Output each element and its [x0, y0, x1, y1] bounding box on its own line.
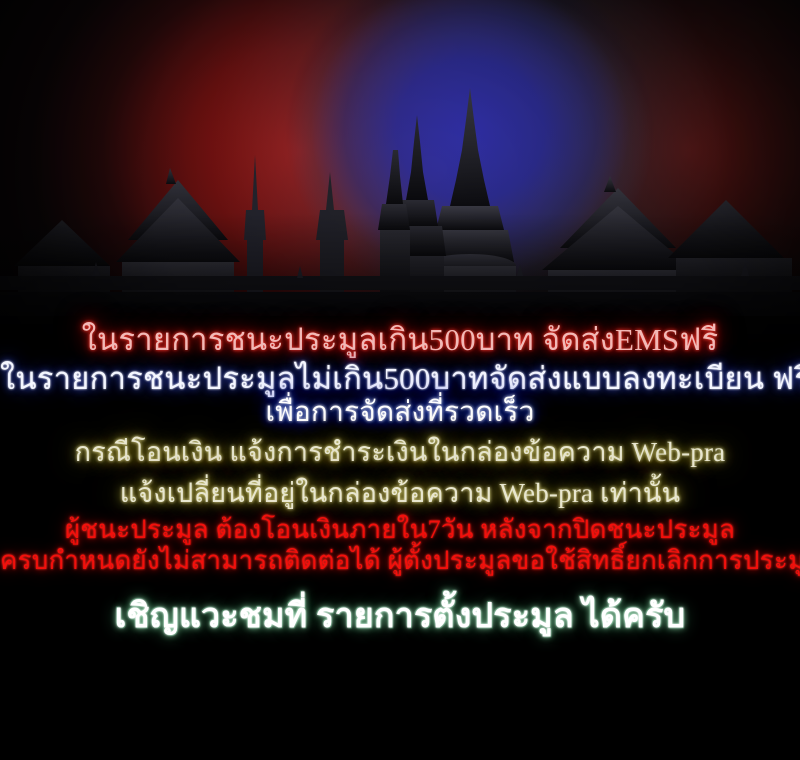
line-shipping-registered-free: ในรายการชนะประมูลไม่เกิน500บาทจัดส่งแบบล… — [0, 359, 800, 397]
terms-text-block: ในรายการชนะประมูลเกิน500บาท จัดส่งEMSฟรี… — [0, 318, 800, 634]
line-address-change: แจ้งเปลี่ยนที่อยู่ในกล่องข้อความ Web-pra… — [0, 473, 800, 514]
line-transfer-7-days: ผู้ชนะประมูล ต้องโอนเงินภายใน7วัน หลังจา… — [0, 514, 800, 545]
auction-terms-banner: ในรายการชนะประมูลเกิน500บาท จัดส่งEMSฟรี… — [0, 0, 800, 760]
line-invite-visit: เชิญแวะชมที่ รายการตั้งประมูล ได้ครับ — [0, 576, 800, 634]
temple-central-spire — [424, 88, 516, 314]
temple-right-pavilion — [542, 176, 694, 314]
line-cancel-right: ครบกำหนดยังไม่สามารถติดต่อได้ ผู้ตั้งประ… — [0, 545, 800, 576]
temple-left-chedi — [316, 172, 348, 314]
temple-left-outer-roof — [14, 220, 110, 314]
temple-wall-finials — [92, 262, 749, 278]
temple-terrace-wall — [0, 276, 800, 322]
line-shipping-ems-free: ในรายการชนะประมูลเกิน500บาท จัดส่งEMSฟรี — [0, 318, 800, 359]
temple-left-pavilion — [116, 168, 240, 314]
temple-far-right-hall — [668, 200, 792, 314]
line-payment-notify: กรณีโอนเงิน แจ้งการชำระเงินในกล่องข้อควา… — [0, 432, 800, 473]
temple-thin-finial-left — [244, 155, 266, 314]
temple-second-spire — [390, 115, 446, 314]
line-fast-delivery: เพื่อการจัดส่งที่รวดเร็ว — [0, 397, 800, 432]
temple-small-spire — [378, 150, 410, 314]
temple-silhouette-image — [0, 80, 800, 340]
